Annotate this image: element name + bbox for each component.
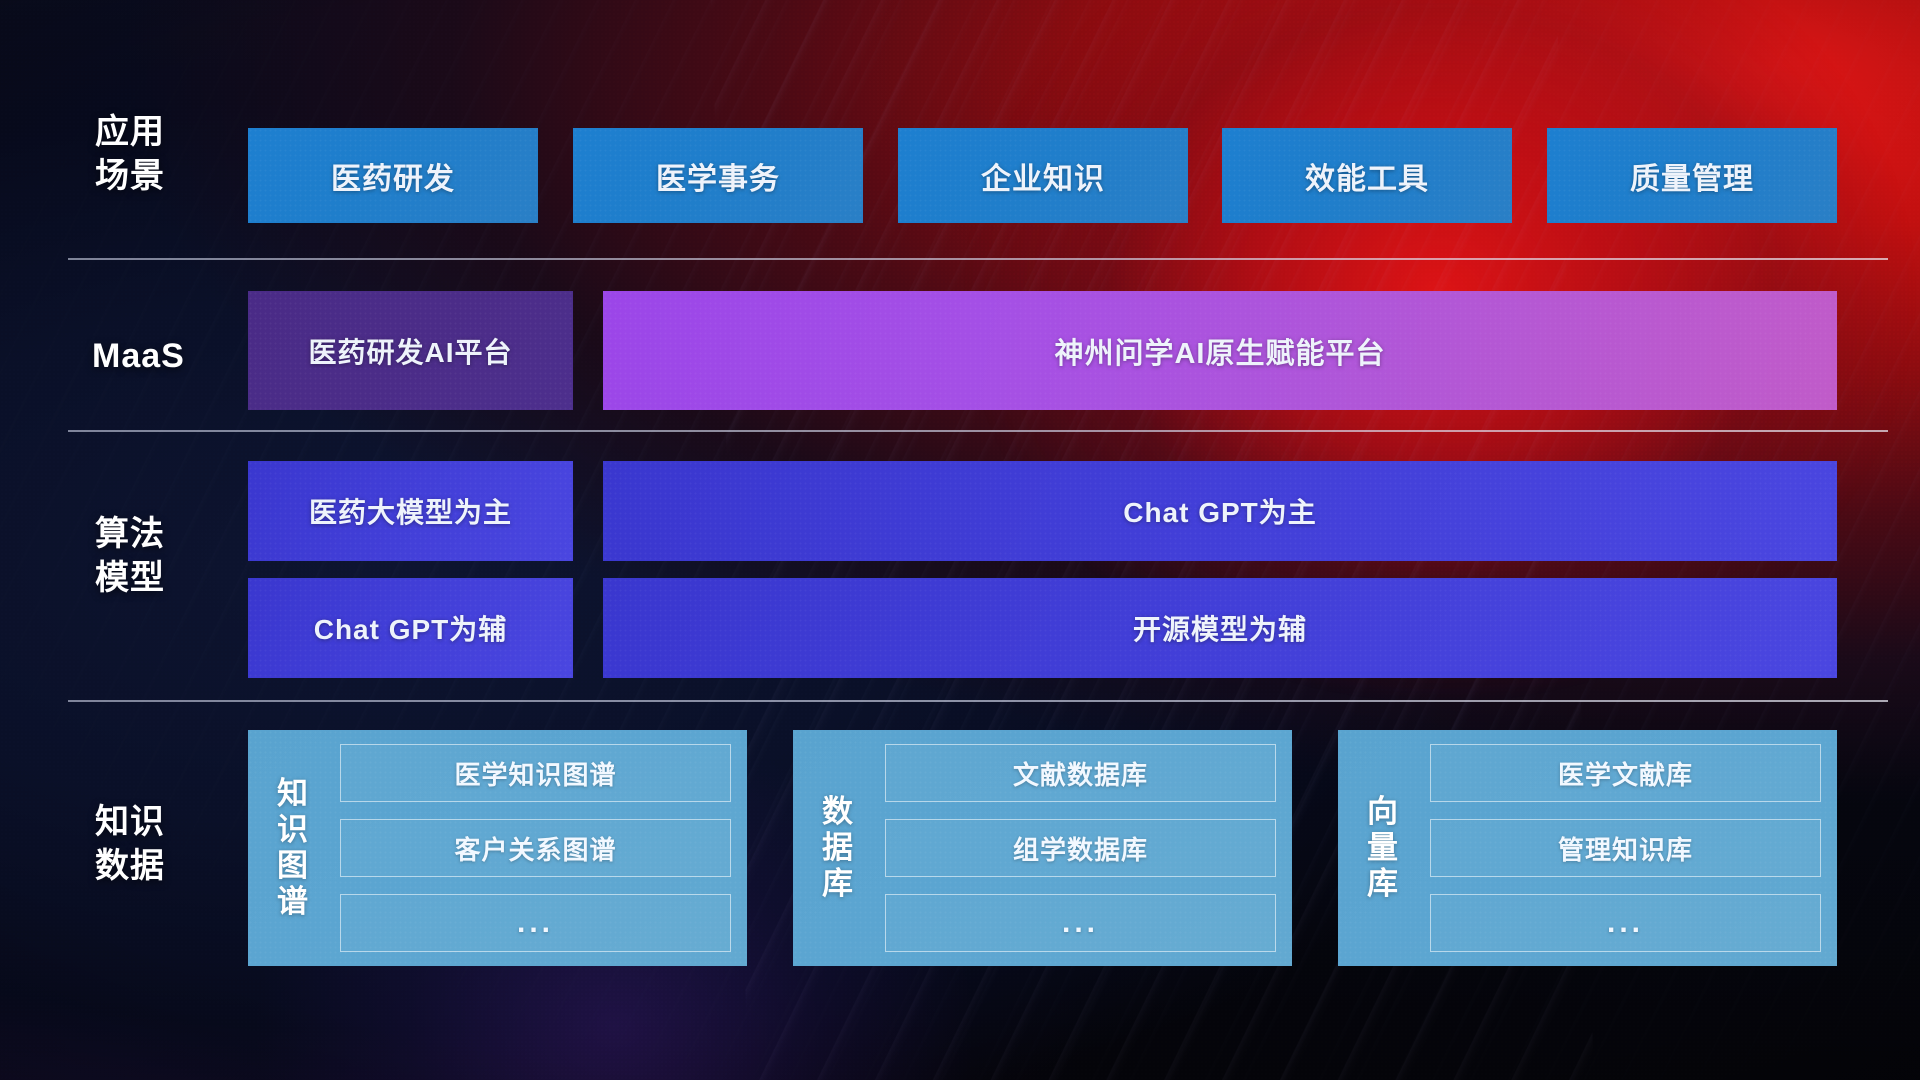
algorithm-box-chatgpt-secondary-label: Chat GPT为辅 <box>314 608 508 648</box>
knowledge-group-vector-store[interactable]: 向量库 医学文献库 管理知识库 ... <box>1338 730 1837 966</box>
knowledge-item-more[interactable]: ... <box>885 894 1276 952</box>
knowledge-item[interactable]: 组学数据库 <box>885 819 1276 877</box>
scenario-box-medical-affairs-label: 医学事务 <box>656 154 780 198</box>
divider-after-application-scenario <box>68 258 1888 260</box>
algorithm-box-chatgpt-primary-label: Chat GPT为主 <box>1123 491 1317 531</box>
maas-box-shenzhou-wenxue-platform-label: 神州问学AI原生赋能平台 <box>1054 330 1385 372</box>
knowledge-group-knowledge-graph-title: 知识图谱 <box>262 744 324 952</box>
scenario-box-enterprise-knowledge[interactable]: 企业知识 <box>898 128 1188 223</box>
row-label-application-scenario: 应用 场景 <box>95 110 165 198</box>
knowledge-item[interactable]: 文献数据库 <box>885 744 1276 802</box>
scenario-box-efficiency-tools-label: 效能工具 <box>1305 154 1429 198</box>
knowledge-item[interactable]: 医学知识图谱 <box>340 744 731 802</box>
scenario-box-quality-management[interactable]: 质量管理 <box>1547 128 1837 223</box>
divider-after-algorithm-model <box>68 700 1888 702</box>
diagram-content: 应用 场景 医药研发 医学事务 企业知识 效能工具 质量管理 MaaS 医药研发… <box>0 0 1920 1080</box>
maas-box-medicine-rd-ai-platform[interactable]: 医药研发AI平台 <box>248 291 573 410</box>
algorithm-box-pharma-llm-primary[interactable]: 医药大模型为主 <box>248 461 573 561</box>
row-label-algorithm-model: 算法 模型 <box>95 512 165 600</box>
knowledge-group-database[interactable]: 数据库 文献数据库 组学数据库 ... <box>793 730 1292 966</box>
scenario-box-efficiency-tools[interactable]: 效能工具 <box>1222 128 1512 223</box>
maas-box-medicine-rd-ai-platform-label: 医药研发AI平台 <box>308 331 512 371</box>
knowledge-item-more[interactable]: ... <box>1430 894 1821 952</box>
knowledge-item-more[interactable]: ... <box>340 894 731 952</box>
knowledge-item[interactable]: 医学文献库 <box>1430 744 1821 802</box>
scenario-box-enterprise-knowledge-label: 企业知识 <box>981 154 1105 198</box>
scenario-box-medicine-rd-label: 医药研发 <box>331 154 455 198</box>
knowledge-item[interactable]: 客户关系图谱 <box>340 819 731 877</box>
algorithm-box-pharma-llm-primary-label: 医药大模型为主 <box>309 491 512 531</box>
knowledge-group-database-items: 文献数据库 组学数据库 ... <box>885 744 1276 952</box>
architecture-diagram-slide: 应用 场景 医药研发 医学事务 企业知识 效能工具 质量管理 MaaS 医药研发… <box>0 0 1920 1080</box>
knowledge-group-database-title: 数据库 <box>807 744 869 952</box>
algorithm-box-chatgpt-primary[interactable]: Chat GPT为主 <box>603 461 1837 561</box>
maas-box-shenzhou-wenxue-platform[interactable]: 神州问学AI原生赋能平台 <box>603 291 1837 410</box>
algorithm-box-opensource-secondary[interactable]: 开源模型为辅 <box>603 578 1837 678</box>
row-label-knowledge-data: 知识 数据 <box>95 800 165 888</box>
knowledge-group-vector-store-items: 医学文献库 管理知识库 ... <box>1430 744 1821 952</box>
knowledge-group-vector-store-title: 向量库 <box>1352 744 1414 952</box>
scenario-box-quality-management-label: 质量管理 <box>1630 154 1754 198</box>
scenario-box-medicine-rd[interactable]: 医药研发 <box>248 128 538 223</box>
algorithm-box-opensource-secondary-label: 开源模型为辅 <box>1133 608 1307 648</box>
knowledge-group-knowledge-graph-items: 医学知识图谱 客户关系图谱 ... <box>340 744 731 952</box>
scenario-box-medical-affairs[interactable]: 医学事务 <box>573 128 863 223</box>
divider-after-maas <box>68 430 1888 432</box>
algorithm-box-chatgpt-secondary[interactable]: Chat GPT为辅 <box>248 578 573 678</box>
knowledge-item[interactable]: 管理知识库 <box>1430 819 1821 877</box>
row-label-maas: MaaS <box>92 334 185 378</box>
knowledge-group-knowledge-graph[interactable]: 知识图谱 医学知识图谱 客户关系图谱 ... <box>248 730 747 966</box>
